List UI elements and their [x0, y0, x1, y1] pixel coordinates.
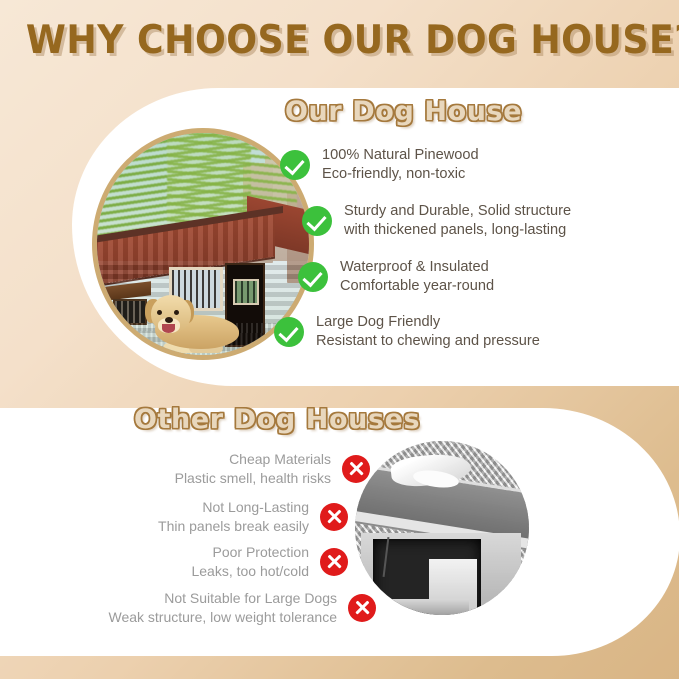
drawback-text: Poor Protection Leaks, too hot/cold	[191, 543, 309, 580]
infographic-canvas: WHY CHOOSE OUR DOG HOUSE?" Our Dog House	[0, 0, 679, 679]
x-icon	[320, 503, 348, 531]
photo-golden-retriever	[145, 291, 241, 353]
drawback-line-secondary: Plastic smell, health risks	[175, 469, 331, 488]
drawback-item: Not Suitable for Large Dogs Weak structu…	[108, 589, 376, 626]
feature-line-primary: 100% Natural Pinewood	[322, 146, 479, 165]
feature-line-secondary: Comfortable year-round	[340, 277, 494, 296]
drawback-text: Not Suitable for Large Dogs Weak structu…	[108, 589, 337, 626]
page-title: WHY CHOOSE OUR DOG HOUSE?"	[0, 18, 679, 63]
dog-eye	[157, 310, 162, 315]
feature-text: Large Dog Friendly Resistant to chewing …	[316, 313, 540, 351]
feature-item: Large Dog Friendly Resistant to chewing …	[274, 313, 540, 351]
feature-text: Sturdy and Durable, Solid structure with…	[344, 202, 571, 240]
good-feature-list: 100% Natural Pinewood Eco-friendly, non-…	[270, 146, 670, 358]
photo-broken-board	[377, 599, 469, 615]
drawback-line-secondary: Weak structure, low weight tolerance	[108, 608, 337, 627]
drawback-text: Cheap Materials Plastic smell, health ri…	[175, 450, 331, 487]
bad-section-heading: Other Dog Houses	[134, 404, 420, 435]
x-icon	[342, 455, 370, 483]
photo-side-window	[113, 299, 147, 325]
drawback-line-primary: Not Long-Lasting	[158, 498, 309, 517]
dog-eye	[174, 310, 179, 315]
dog-mouth	[162, 324, 175, 333]
dog-nose	[165, 317, 173, 323]
good-section-heading: Our Dog House	[285, 96, 522, 127]
feature-line-secondary: with thickened panels, long-lasting	[344, 221, 571, 240]
feature-item: Sturdy and Durable, Solid structure with…	[302, 202, 571, 240]
check-icon	[280, 150, 310, 180]
feature-text: Waterproof & Insulated Comfortable year-…	[340, 258, 494, 296]
drawback-line-primary: Poor Protection	[191, 543, 309, 562]
drawback-item: Not Long-Lasting Thin panels break easil…	[158, 498, 348, 535]
drawback-text: Not Long-Lasting Thin panels break easil…	[158, 498, 309, 535]
drawback-line-primary: Cheap Materials	[175, 450, 331, 469]
drawback-line-secondary: Thin panels break easily	[158, 517, 309, 536]
check-icon	[302, 206, 332, 236]
drawback-line-primary: Not Suitable for Large Dogs	[108, 589, 337, 608]
feature-line-primary: Waterproof & Insulated	[340, 258, 494, 277]
feature-line-secondary: Eco-friendly, non-toxic	[322, 165, 479, 184]
feature-text: 100% Natural Pinewood Eco-friendly, non-…	[322, 146, 479, 184]
drawback-line-secondary: Leaks, too hot/cold	[191, 562, 309, 581]
x-icon	[320, 548, 348, 576]
feature-line-primary: Sturdy and Durable, Solid structure	[344, 202, 571, 221]
x-icon	[348, 594, 376, 622]
check-icon	[298, 262, 328, 292]
feature-line-secondary: Resistant to chewing and pressure	[316, 332, 540, 351]
drawback-item: Cheap Materials Plastic smell, health ri…	[175, 450, 370, 487]
page-title-text: WHY CHOOSE OUR DOG HOUSE?"	[26, 18, 679, 63]
bad-feature-list: Cheap Materials Plastic smell, health ri…	[8, 450, 388, 630]
feature-item: Waterproof & Insulated Comfortable year-…	[298, 258, 494, 296]
drawback-item: Poor Protection Leaks, too hot/cold	[191, 543, 348, 580]
feature-line-primary: Large Dog Friendly	[316, 313, 540, 332]
feature-item: 100% Natural Pinewood Eco-friendly, non-…	[280, 146, 479, 184]
check-icon	[274, 317, 304, 347]
